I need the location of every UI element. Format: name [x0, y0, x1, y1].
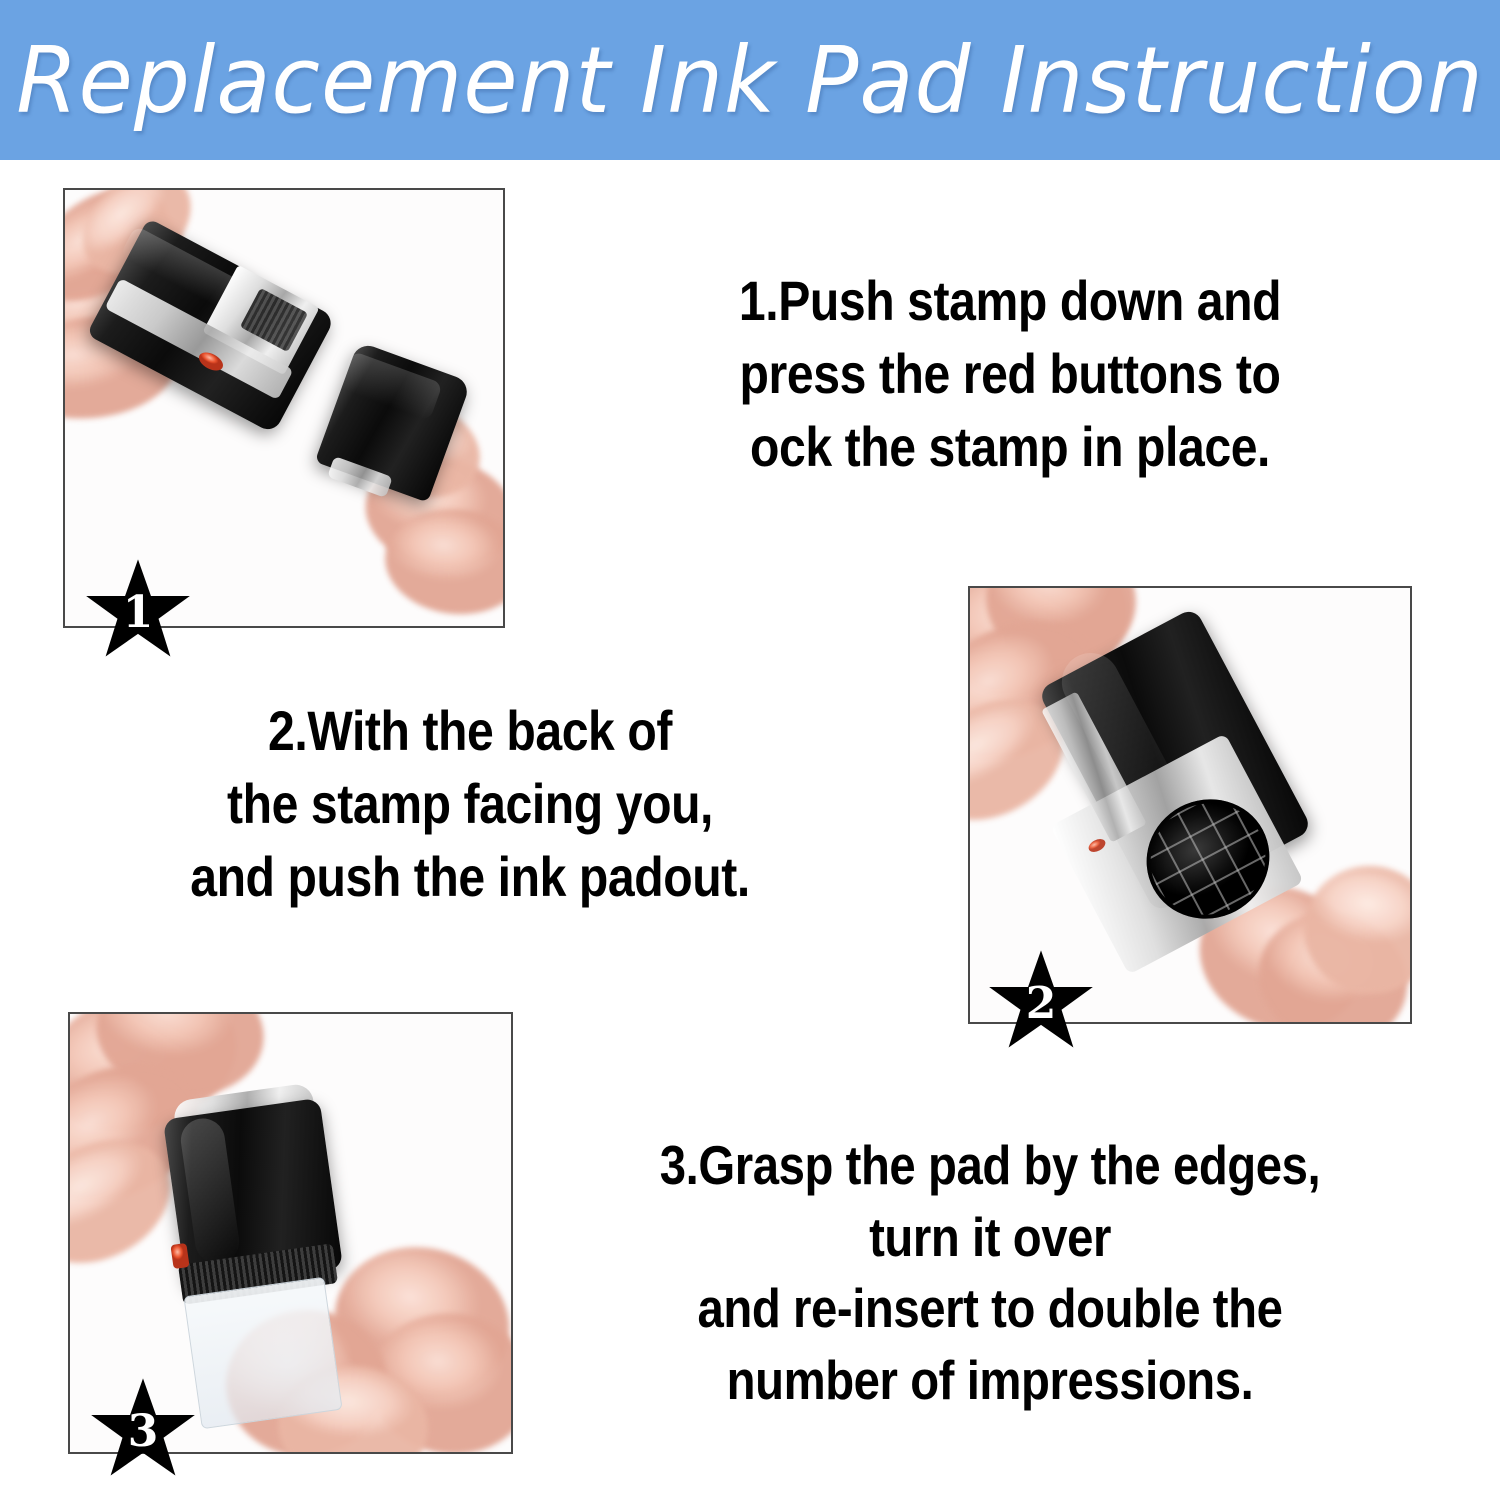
step-2-line-1: 2.With the back of [92, 695, 849, 768]
step-2-line-2: the stamp facing you, [92, 768, 849, 841]
page-title: Replacement Ink Pad Instruction [30, 0, 1470, 160]
step-3-line-4: number of impressions. [586, 1345, 1394, 1417]
header-banner: Replacement Ink Pad Instruction [0, 0, 1500, 160]
step-3-line-2: turn it over [586, 1202, 1394, 1274]
step-3-line-1: 3.Grasp the pad by the edges, [586, 1130, 1394, 1202]
step-3-instruction: 3.Grasp the pad by the edges, turn it ov… [586, 1130, 1394, 1416]
step-1-badge-label: 1 [84, 557, 192, 661]
step-1-line-2: press the red buttons to [623, 338, 1397, 411]
step-2-line-3: and push the ink padout. [92, 841, 849, 914]
step-1-line-3: ock the stamp in place. [623, 411, 1397, 484]
step-2-instruction: 2.With the back of the stamp facing you,… [92, 695, 849, 913]
step-1-instruction: 1.Push stamp down and press the red butt… [623, 265, 1397, 483]
step-1-badge: 1 [84, 557, 192, 661]
step-2-badge-label: 2 [987, 948, 1095, 1052]
step-1-line-1: 1.Push stamp down and [623, 265, 1397, 338]
step-2-badge: 2 [987, 948, 1095, 1052]
step-3-badge-label: 3 [89, 1376, 197, 1480]
step-3-line-3: and re-insert to double the [586, 1273, 1394, 1345]
step-3-badge: 3 [89, 1376, 197, 1480]
